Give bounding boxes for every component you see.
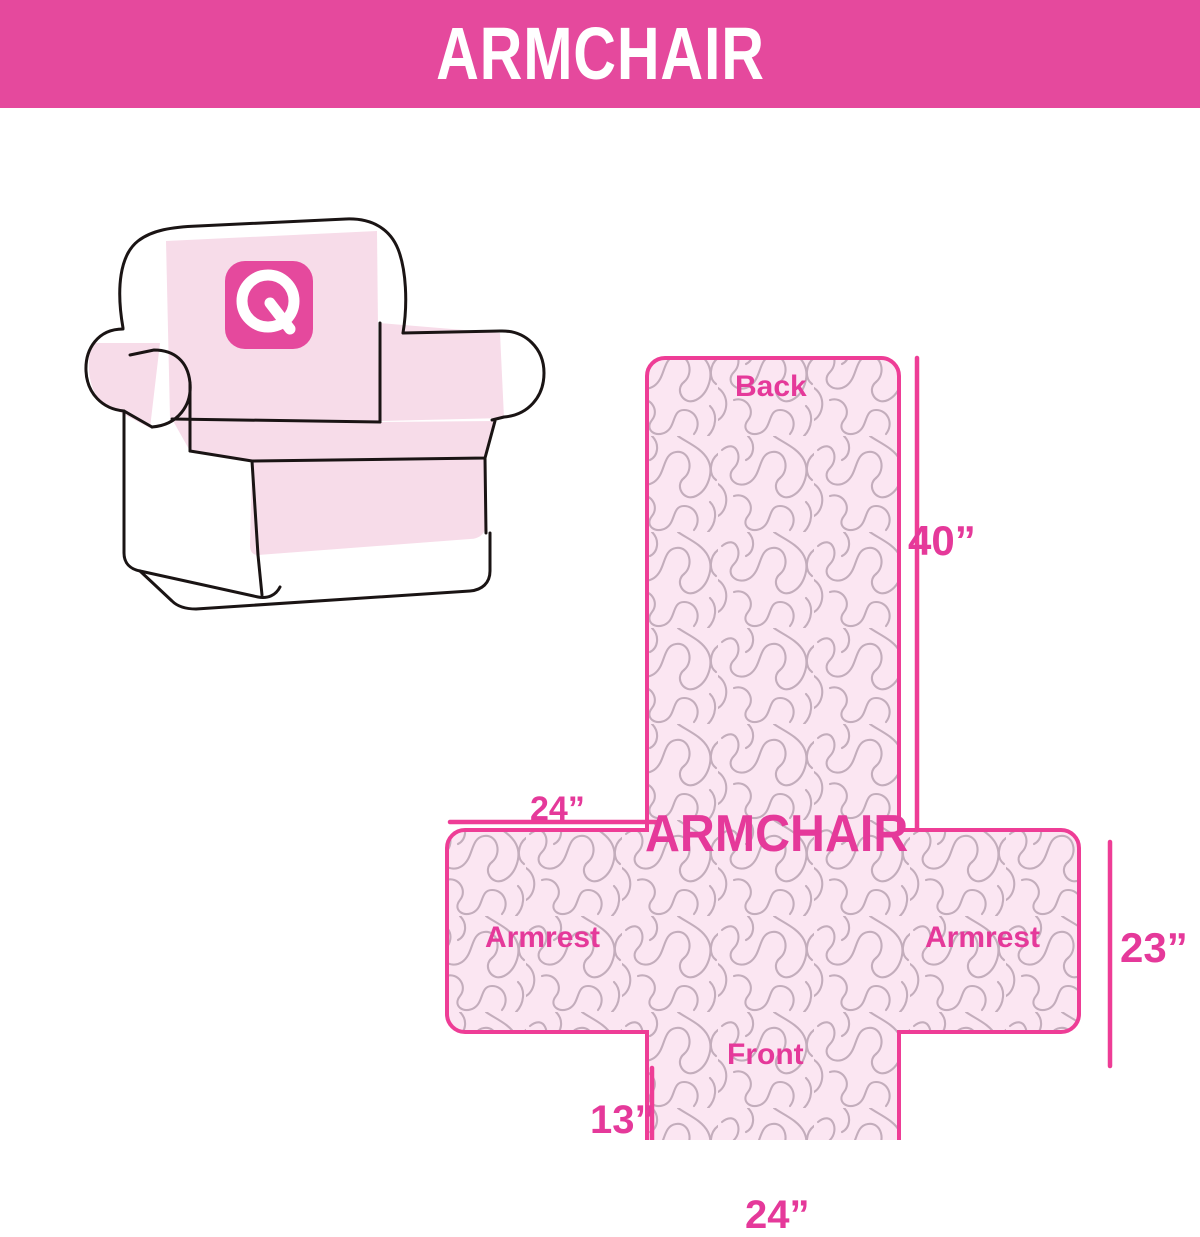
page-header-banner: ARMCHAIR [0, 0, 1200, 108]
panel-label-front: Front [727, 1040, 804, 1070]
chair-base-front [258, 555, 262, 595]
cover-dimension-diagram: Back ARMCHAIR Armrest Armrest Front 40” … [430, 340, 1200, 1140]
q-logo-badge [225, 261, 313, 349]
dimension-label-armrest-depth: 23” [1120, 927, 1188, 969]
dimension-label-back-width: 24” [530, 792, 585, 826]
cover-cross-shape [430, 340, 1200, 1140]
dimension-label-front-width: 24” [745, 1195, 810, 1235]
panel-label-back: Back [735, 372, 807, 402]
panel-label-armrest-left: Armrest [485, 923, 600, 953]
panel-label-center: ARMCHAIR [645, 808, 908, 860]
dimension-label-back-height: 40” [908, 520, 976, 562]
content-stage: Back ARMCHAIR Armrest Armrest Front 40” … [0, 108, 1200, 1200]
page-title: ARMCHAIR [436, 17, 765, 91]
dimension-label-front-height: 13” [590, 1100, 655, 1140]
panel-label-armrest-right: Armrest [925, 923, 1040, 953]
